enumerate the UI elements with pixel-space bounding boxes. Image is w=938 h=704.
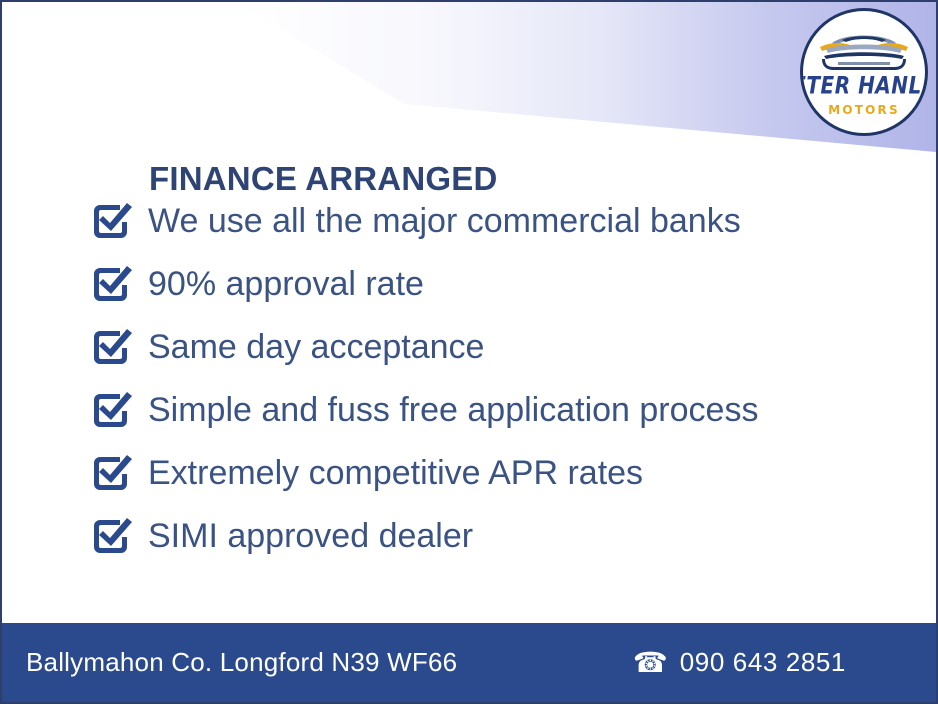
checkbox-checked-icon	[86, 323, 134, 371]
list-item: SIMI approved dealer	[86, 504, 886, 567]
benefits-list: We use all the major commercial banks 90…	[86, 189, 886, 567]
checkbox-checked-icon	[86, 512, 134, 560]
checkbox-checked-icon	[86, 386, 134, 434]
list-item: 90% approval rate	[86, 252, 886, 315]
checkbox-checked-icon	[86, 260, 134, 308]
finance-arranged-poster: PETER HANLEY MOTORS FINANCE ARRANGED We …	[0, 0, 938, 704]
footer-address: Ballymahon Co. Longford N39 WF66	[26, 647, 457, 678]
logo-brand-name: PETER HANLEY	[800, 73, 928, 97]
list-item: Extremely competitive APR rates	[86, 441, 886, 504]
list-item-label: We use all the major commercial banks	[148, 204, 741, 238]
list-item-label: SIMI approved dealer	[148, 519, 473, 553]
list-item-label: 90% approval rate	[148, 267, 424, 301]
peter-hanley-motors-logo: PETER HANLEY MOTORS	[800, 8, 928, 136]
list-item-label: Extremely competitive APR rates	[148, 456, 643, 490]
footer-phone-number[interactable]: 090 643 2851	[680, 647, 846, 678]
checkbox-checked-icon	[86, 449, 134, 497]
logo-brand-subtitle: MOTORS	[828, 104, 900, 116]
footer-contact[interactable]: ☎ 090 643 2851	[633, 647, 846, 678]
list-item-label: Same day acceptance	[148, 330, 484, 364]
car-front-icon	[812, 25, 916, 73]
checkbox-checked-icon	[86, 197, 134, 245]
telephone-icon: ☎	[633, 649, 668, 677]
list-item-label: Simple and fuss free application process	[148, 393, 758, 427]
footer-bar: Ballymahon Co. Longford N39 WF66 ☎ 090 6…	[2, 623, 936, 702]
list-item: Simple and fuss free application process	[86, 378, 886, 441]
list-item: Same day acceptance	[86, 315, 886, 378]
list-item: We use all the major commercial banks	[86, 189, 886, 252]
